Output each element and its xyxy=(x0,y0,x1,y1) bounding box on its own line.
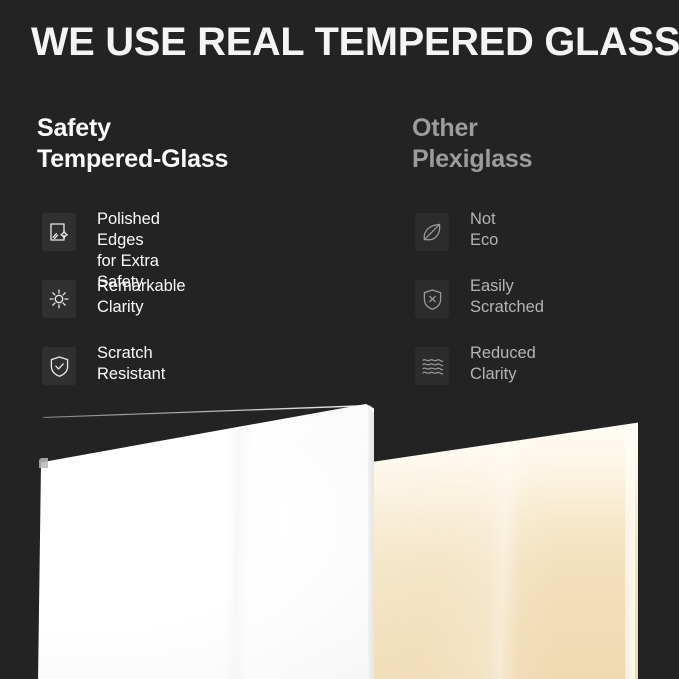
shield-x-icon xyxy=(415,280,449,318)
column-heading-plexiglass: Other Plexiglass xyxy=(412,113,532,175)
crossed-leaf-icon xyxy=(415,213,449,251)
feature-label: Reduced Clarity xyxy=(470,343,536,385)
page-title: WE USE REAL TEMPERED GLASS xyxy=(31,20,659,64)
feature-label: Scratch Resistant xyxy=(97,343,165,385)
column-heading-tempered-glass: Safety Tempered-Glass xyxy=(37,113,228,175)
shield-check-icon xyxy=(42,347,76,385)
tempered-glass-panel xyxy=(38,404,374,679)
feature-label: Easily Scratched xyxy=(470,276,544,318)
tempered-glass-panel-corner xyxy=(39,458,48,468)
polished-square-sparkle-icon xyxy=(42,213,76,251)
sun-brightness-icon xyxy=(42,280,76,318)
infographic-canvas: WE USE REAL TEMPERED GLASS Safety Temper… xyxy=(0,0,679,679)
plexiglass-panel-edge xyxy=(625,425,635,679)
plexiglass-panel xyxy=(370,422,638,679)
feature-label: Remarkable Clarity xyxy=(97,276,185,318)
wavy-lines-icon xyxy=(415,347,449,385)
product-comparison-photo xyxy=(0,396,679,679)
feature-label: Not Eco xyxy=(470,209,498,251)
